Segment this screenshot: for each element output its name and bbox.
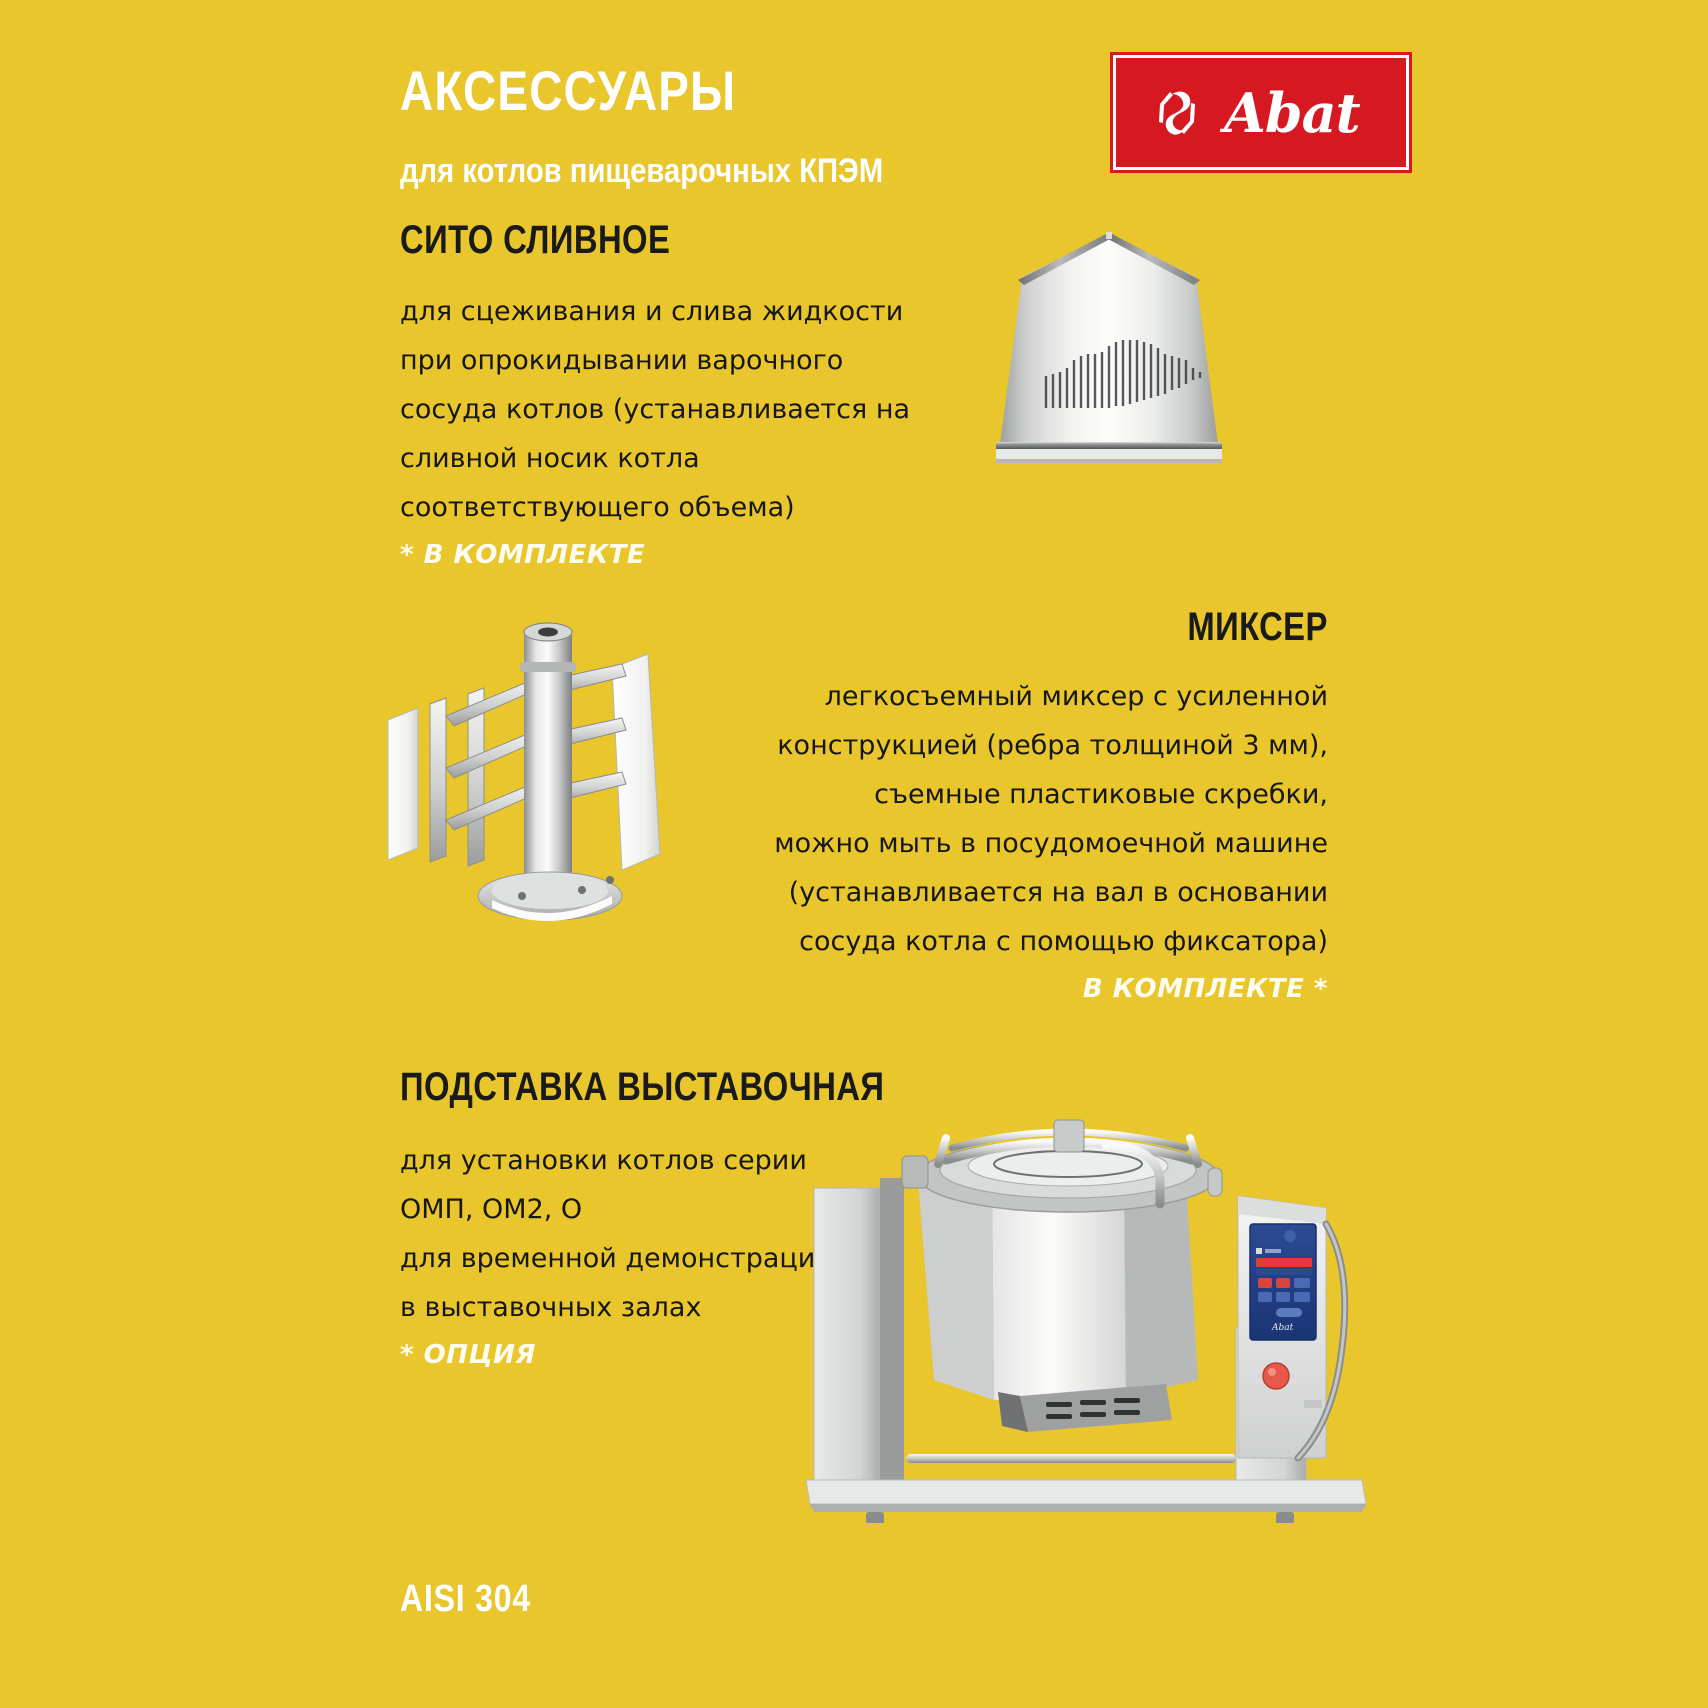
body-line: сливной носик котла	[400, 434, 910, 483]
section-mixer-body: легкосъемный миксер с усиленной конструк…	[774, 672, 1328, 1012]
abat-logo: Abat	[1120, 62, 1402, 163]
exhibition-stand-photo: Abat	[806, 1028, 1376, 1523]
abat-mark-icon	[1146, 82, 1208, 144]
body-line: для сцеживания и слива жидкости	[400, 287, 910, 336]
mixer-photo	[372, 608, 772, 946]
body-line: при опрокидывании варочного	[400, 336, 910, 385]
drain-sieve-photo	[900, 228, 1318, 488]
material-label: AISI 304	[400, 1578, 531, 1621]
body-line: сосуда котла с помощью фиксатора)	[774, 917, 1328, 966]
svg-text:Abat: Abat	[1271, 1323, 1294, 1333]
section-sieve: СИТО СЛИВНОЕ для сцеживания и слива жидк…	[400, 218, 910, 578]
body-line: съемные пластиковые скребки,	[774, 770, 1328, 819]
poster-page: АКСЕССУАРЫ для котлов пищеварочных КПЭМ …	[0, 0, 1708, 1708]
page-subtitle: для котлов пищеварочных КПЭМ	[400, 152, 883, 191]
section-sieve-title: СИТО СЛИВНОЕ	[400, 218, 818, 263]
body-line: соответствующего объема)	[400, 483, 910, 532]
section-mixer-note: В КОМПЛЕКТЕ *	[774, 966, 1328, 1012]
body-line: легкосъемный миксер с усиленной	[774, 672, 1328, 721]
section-sieve-note: * В КОМПЛЕКТЕ	[400, 532, 910, 578]
section-mixer: МИКСЕР легкосъемный миксер с усиленной к…	[774, 605, 1328, 1012]
body-line: можно мыть в посудомоечной машине	[774, 819, 1328, 868]
body-line: конструкцией (ребра толщиной 3 мм),	[774, 721, 1328, 770]
section-sieve-body: для сцеживания и слива жидкости при опро…	[400, 287, 910, 578]
page-title: АКСЕССУАРЫ	[400, 58, 736, 123]
body-line: сосуда котлов (устанавливается на	[400, 385, 910, 434]
abat-wordmark: Abat	[1224, 86, 1360, 140]
body-line: (устанавливается на вал в основании	[774, 868, 1328, 917]
section-mixer-title: МИКСЕР	[874, 605, 1328, 650]
